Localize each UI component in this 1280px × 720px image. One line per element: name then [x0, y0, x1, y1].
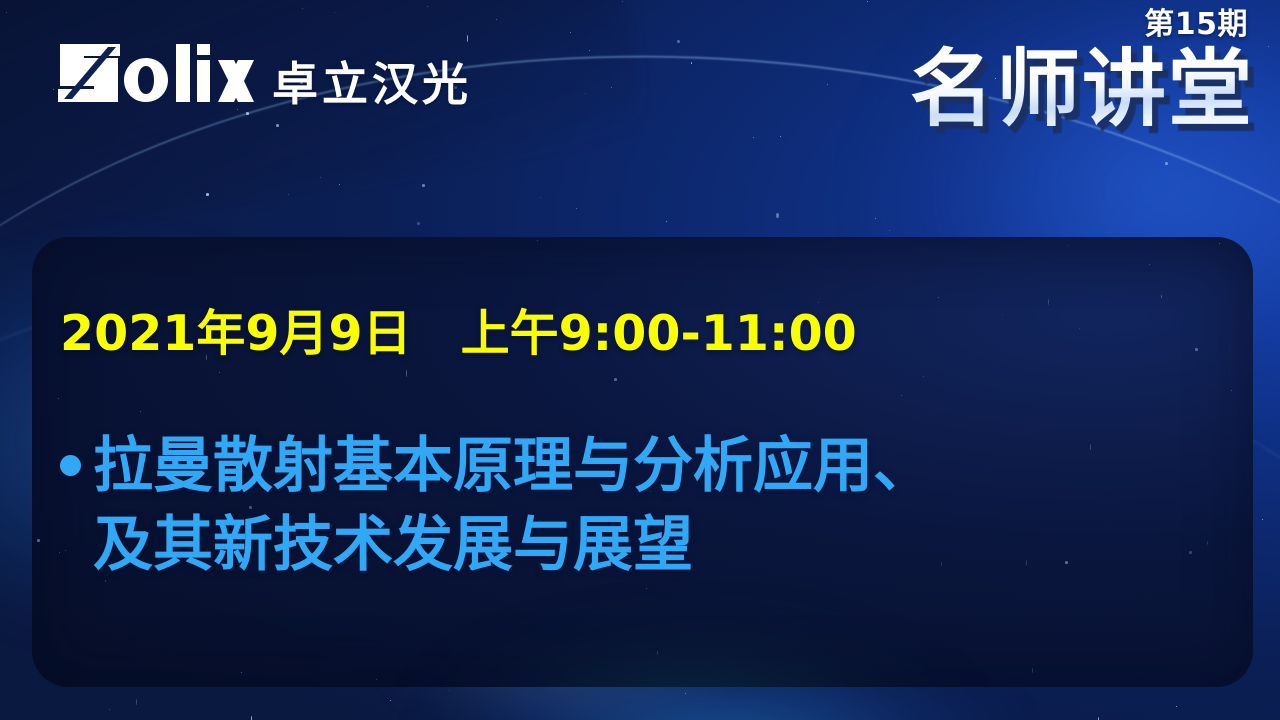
topic-text: 拉曼散射基本原理与分析应用、 及其新技术发展与展望 [93, 427, 933, 585]
zolix-logo-mark [58, 42, 254, 109]
topic-item: 拉曼散射基本原理与分析应用、 及其新技术发展与展望 [60, 427, 933, 585]
bullet-icon [60, 455, 81, 476]
zolix-logo: 卓立汉光 [58, 42, 472, 109]
event-datetime: 2021年9月9日 上午9:00-11:00 [60, 309, 857, 358]
poster-canvas: 卓立汉光 第15期 名师讲堂 名师讲堂 2021年9月9日 上午9:00-11:… [0, 0, 1280, 720]
issue-label: 第15期 [1144, 10, 1248, 40]
content-panel: 2021年9月9日 上午9:00-11:00 拉曼散射基本原理与分析应用、 及其… [32, 237, 1253, 687]
series-title: 名师讲堂 名师讲堂 [910, 44, 1254, 135]
series-title-face: 名师讲堂 [910, 44, 1254, 135]
zolix-logo-chinese: 卓立汉光 [272, 61, 472, 109]
